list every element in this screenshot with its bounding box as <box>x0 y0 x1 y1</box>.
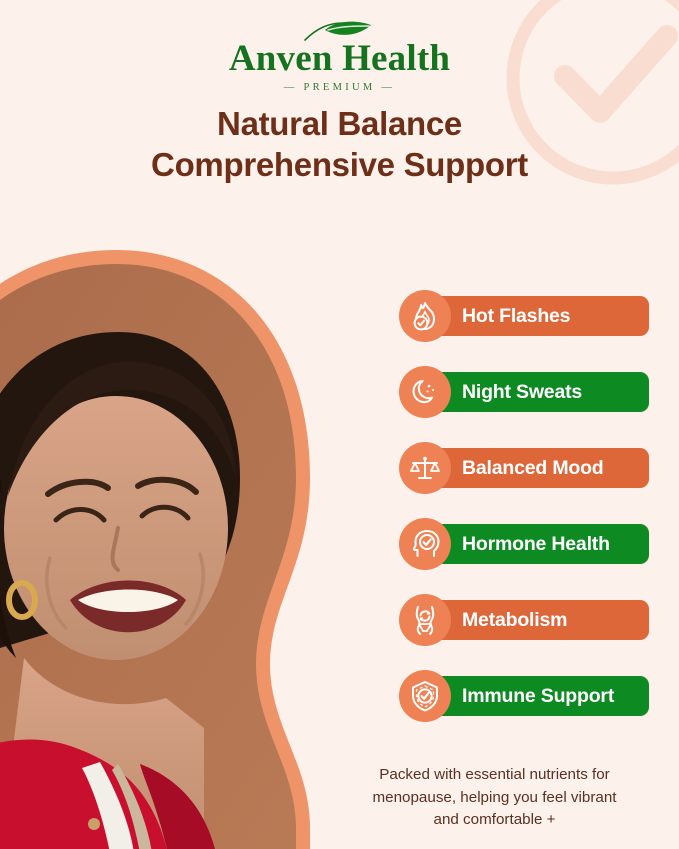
benefit-bar[interactable]: Hot Flashes <box>432 296 649 336</box>
brand-name: Anven Health <box>0 40 679 79</box>
benefit-bar[interactable]: Metabolism <box>432 600 649 640</box>
crescent-moon-stars-icon <box>399 366 451 418</box>
headline-line-1: Natural Balance <box>0 104 679 145</box>
shield-check-icon <box>399 670 451 722</box>
benefit-label: Hormone Health <box>462 533 610 556</box>
benefit-item[interactable]: Metabolism <box>399 594 649 646</box>
benefit-label: Immune Support <box>462 685 614 708</box>
flame-check-icon <box>399 290 451 342</box>
benefit-label: Balanced Mood <box>462 457 604 480</box>
headline-line-2: Comprehensive Support <box>0 145 679 186</box>
page-title: Natural Balance Comprehensive Support <box>0 104 679 186</box>
portrait-photo <box>0 228 324 849</box>
footer-line-1: Packed with essential nutrients for <box>330 764 659 786</box>
brand-tagline: — PREMIUM — <box>0 82 679 93</box>
benefit-bar[interactable]: Night Sweats <box>432 372 649 412</box>
benefit-item[interactable]: Night Sweats <box>399 366 649 418</box>
promo-page: Anven Health — PREMIUM — Natural Balance… <box>0 0 679 849</box>
benefit-bar[interactable]: Balanced Mood <box>432 448 649 488</box>
benefits-list: Hot Flashes Night Sweats <box>399 290 649 722</box>
benefit-label: Metabolism <box>462 609 567 632</box>
benefit-item[interactable]: Balanced Mood <box>399 442 649 494</box>
benefit-item[interactable]: Hormone Health <box>399 518 649 570</box>
footer-description: Packed with essential nutrients for meno… <box>330 764 659 831</box>
balance-scale-icon <box>399 442 451 494</box>
head-check-icon <box>399 518 451 570</box>
benefit-item[interactable]: Immune Support <box>399 670 649 722</box>
benefit-label: Night Sweats <box>462 381 582 404</box>
benefit-bar[interactable]: Immune Support <box>432 676 649 716</box>
footer-line-2: menopause, helping you feel vibrant <box>330 787 659 809</box>
benefit-item[interactable]: Hot Flashes <box>399 290 649 342</box>
benefit-bar[interactable]: Hormone Health <box>432 524 649 564</box>
torso-cycle-icon <box>399 594 451 646</box>
footer-line-3: and comfortable + <box>330 809 659 831</box>
benefit-label: Hot Flashes <box>462 305 570 328</box>
brand-logo: Anven Health — PREMIUM — <box>0 18 679 93</box>
